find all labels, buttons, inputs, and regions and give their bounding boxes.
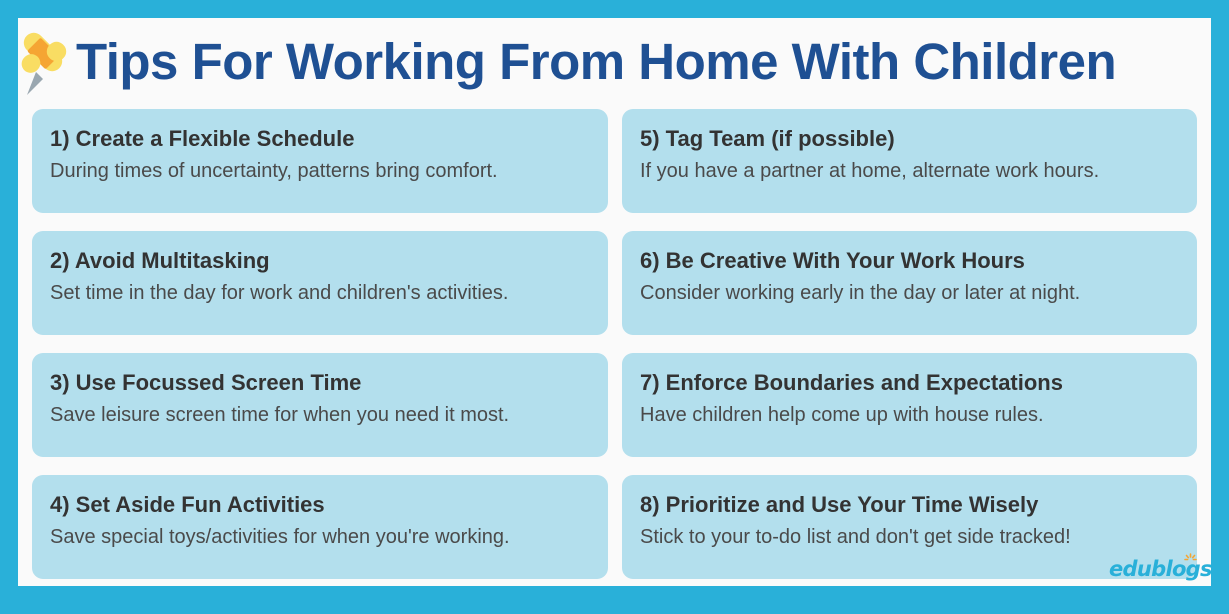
tip-card-heading: 2) Avoid Multitasking	[50, 248, 588, 273]
tip-card-body: If you have a partner at home, alternate…	[640, 159, 1177, 183]
tip-card-body: Set time in the day for work and childre…	[50, 281, 588, 305]
tip-card-body: During times of uncertainty, patterns br…	[50, 159, 588, 183]
tip-card-5: 5) Tag Team (if possible) If you have a …	[622, 109, 1197, 213]
tip-card-body: Consider working early in the day or lat…	[640, 281, 1177, 305]
tip-card-6: 6) Be Creative With Your Work Hours Cons…	[622, 231, 1197, 335]
tip-card-2: 2) Avoid Multitasking Set time in the da…	[32, 231, 608, 335]
tip-card-3: 3) Use Focussed Screen Time Save leisure…	[32, 353, 608, 457]
tip-card-1: 1) Create a Flexible Schedule During tim…	[32, 109, 608, 213]
sparkle-icon	[1184, 553, 1197, 566]
tip-card-heading: 6) Be Creative With Your Work Hours	[640, 248, 1177, 273]
tip-card-body: Save special toys/activities for when yo…	[50, 525, 588, 549]
header: Tips For Working From Home With Children	[18, 18, 1211, 104]
pushpin-icon	[16, 28, 74, 98]
tip-card-heading: 1) Create a Flexible Schedule	[50, 126, 588, 151]
tip-card-heading: 4) Set Aside Fun Activities	[50, 492, 588, 517]
tip-card-body: Save leisure screen time for when you ne…	[50, 403, 588, 427]
edublogs-logo: edublogs	[1109, 554, 1201, 584]
tip-card-body: Stick to your to-do list and don't get s…	[640, 525, 1177, 549]
page-title: Tips For Working From Home With Children	[76, 36, 1116, 87]
tip-card-heading: 5) Tag Team (if possible)	[640, 126, 1177, 151]
tip-card-body: Have children help come up with house ru…	[640, 403, 1177, 427]
tips-column-left: 1) Create a Flexible Schedule During tim…	[32, 109, 608, 579]
tip-card-heading: 8) Prioritize and Use Your Time Wisely	[640, 492, 1177, 517]
tip-card-7: 7) Enforce Boundaries and Expectations H…	[622, 353, 1197, 457]
tip-card-heading: 7) Enforce Boundaries and Expectations	[640, 370, 1177, 395]
content-panel: Tips For Working From Home With Children…	[18, 18, 1211, 586]
tip-card-heading: 3) Use Focussed Screen Time	[50, 370, 588, 395]
tips-column-right: 5) Tag Team (if possible) If you have a …	[622, 109, 1197, 579]
infographic-container: Tips For Working From Home With Children…	[0, 0, 1229, 614]
tip-card-4: 4) Set Aside Fun Activities Save special…	[32, 475, 608, 579]
tips-grid: 1) Create a Flexible Schedule During tim…	[32, 109, 1197, 579]
